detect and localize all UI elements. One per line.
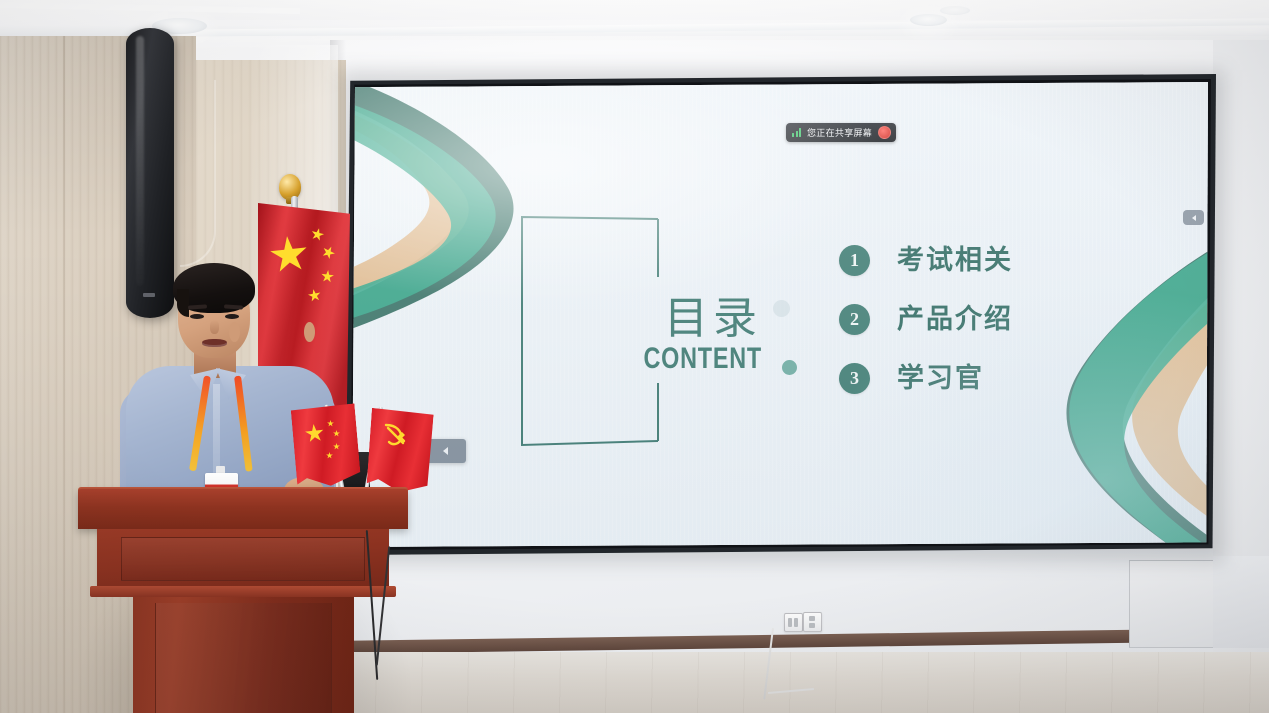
podium-column (133, 597, 354, 713)
presenter-eye (225, 314, 239, 319)
foreground-subjects (0, 0, 1269, 713)
presenter-ear (304, 322, 315, 342)
podium-body (97, 529, 389, 587)
desk-flag-national (291, 403, 362, 488)
scene-root: 目录 CONTENT 1 考试相关 2 产品介绍 3 学习官 (0, 0, 1269, 713)
presenter-eye (190, 314, 204, 319)
flagpole-finial (279, 174, 301, 200)
podium-top (78, 489, 408, 529)
podium-lip (90, 586, 396, 597)
presenter-mouth (202, 339, 227, 347)
presenter-ear (229, 322, 240, 342)
hammer-sickle-icon (380, 420, 410, 450)
presenter-nose (210, 320, 219, 334)
